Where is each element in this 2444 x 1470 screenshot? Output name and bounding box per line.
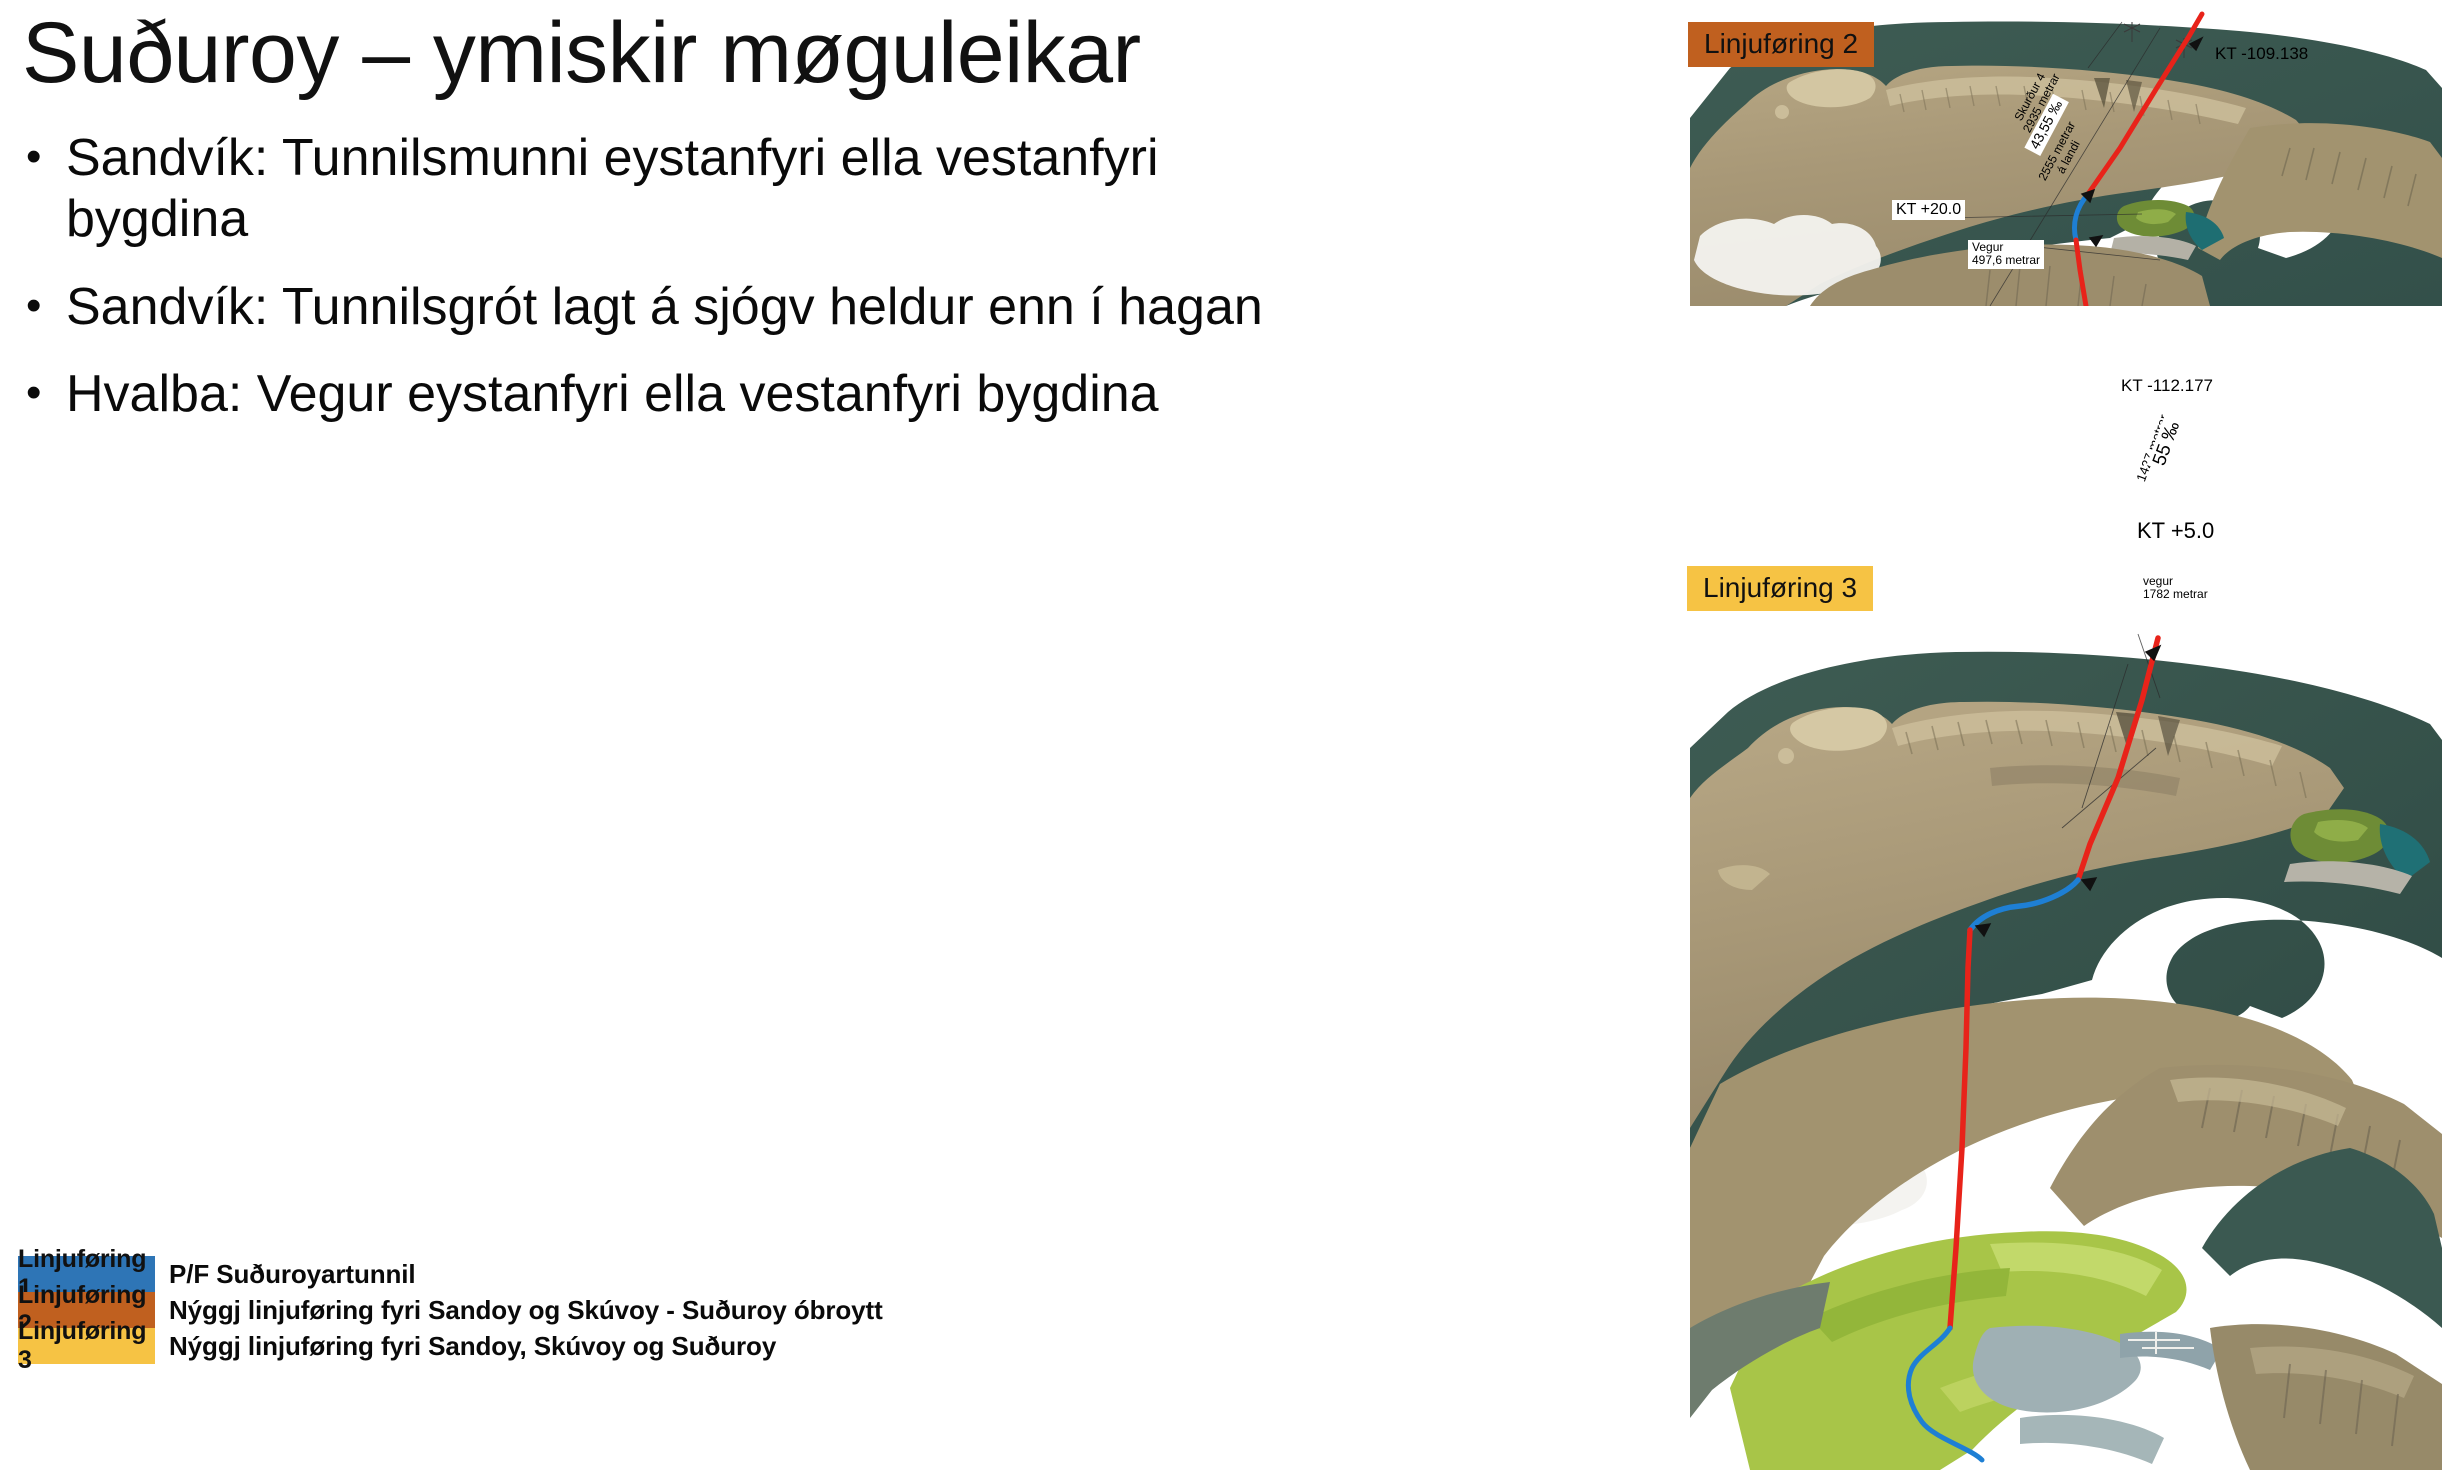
map-label-kt-north-2: KT -109.138 — [2211, 43, 2312, 64]
bullet-list: • Sandvík: Tunnilsmunni eystanfyri ella … — [20, 128, 1320, 451]
list-item: • Sandvík: Tunnilsgrót lagt á sjógv held… — [20, 277, 1320, 338]
list-item: • Sandvík: Tunnilsmunni eystanfyri ella … — [20, 128, 1320, 251]
legend-description: P/F Suðuroyartunnil — [155, 1256, 416, 1292]
road-line-1: Vegur — [1972, 240, 2003, 254]
list-item-label: Sandvík: Tunnilsmunni eystanfyri ella ve… — [66, 128, 1320, 251]
map-label-road-3: vegur 1782 metrar — [2139, 574, 2212, 603]
map-3-graphic — [1690, 628, 2444, 1470]
map-label-road-2: Vegur 497,6 metrar — [1968, 240, 2044, 269]
road-line-2: 497,6 metrar — [1972, 253, 2040, 267]
map-label-kt-south-2: KT +20.0 — [1892, 200, 1965, 220]
legend-row: Linjuføring 1 P/F Suðuroyartunnil — [18, 1256, 1118, 1292]
list-item: • Hvalba: Vegur eystanfyri ella vestanfy… — [20, 364, 1320, 425]
legend-description: Nýggj linjuføring fyri Sandoy og Skúvoy … — [155, 1292, 883, 1328]
badge-linjuforing-2: Linjuføring 2 — [1688, 22, 1874, 67]
legend-row: Linjuføring 3 Nýggj linjuføring fyri San… — [18, 1328, 1118, 1364]
bullet-dot-icon: • — [26, 278, 41, 334]
road-line-2: 1782 metrar — [2143, 587, 2208, 601]
map-label-kt-south-3: KT +5.0 — [2133, 518, 2218, 545]
badge-linjuforing-3: Linjuføring 3 — [1687, 566, 1873, 611]
legend-row: Linjuføring 2 Nýggj linjuføring fyri San… — [18, 1292, 1118, 1328]
islet — [1775, 105, 1789, 119]
legend-swatch-linjuforing-3: Linjuføring 3 — [18, 1328, 155, 1364]
bullet-dot-icon: • — [26, 129, 41, 185]
legend-description: Nýggj linjuføring fyri Sandoy, Skúvoy og… — [155, 1328, 776, 1364]
road-line-1: vegur — [2143, 574, 2173, 588]
list-item-label: Hvalba: Vegur eystanfyri ella vestanfyri… — [66, 364, 1320, 425]
bullet-dot-icon: • — [26, 365, 41, 421]
page-title: Suðuroy – ymiskir møguleikar — [22, 8, 1582, 98]
islet — [1778, 748, 1794, 764]
map-image-linjuforing-3 — [1690, 628, 2444, 1470]
map-label-kt-north-3: KT -112.177 — [2117, 375, 2217, 396]
legend: Linjuføring 1 P/F Suðuroyartunnil Linjuf… — [18, 1256, 1118, 1364]
list-item-label: Sandvík: Tunnilsgrót lagt á sjógv heldur… — [66, 277, 1320, 338]
